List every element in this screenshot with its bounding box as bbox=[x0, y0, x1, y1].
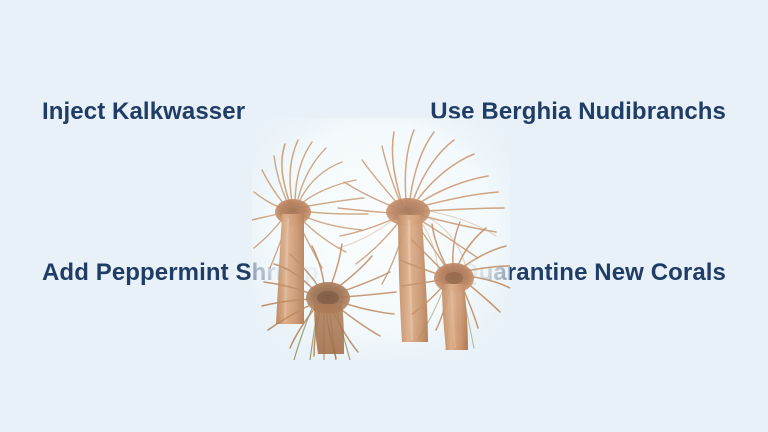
slide-canvas: Inject Kalkwasser Use Berghia Nudibranch… bbox=[0, 0, 768, 432]
aiptasia-anemones-photo bbox=[252, 118, 510, 360]
